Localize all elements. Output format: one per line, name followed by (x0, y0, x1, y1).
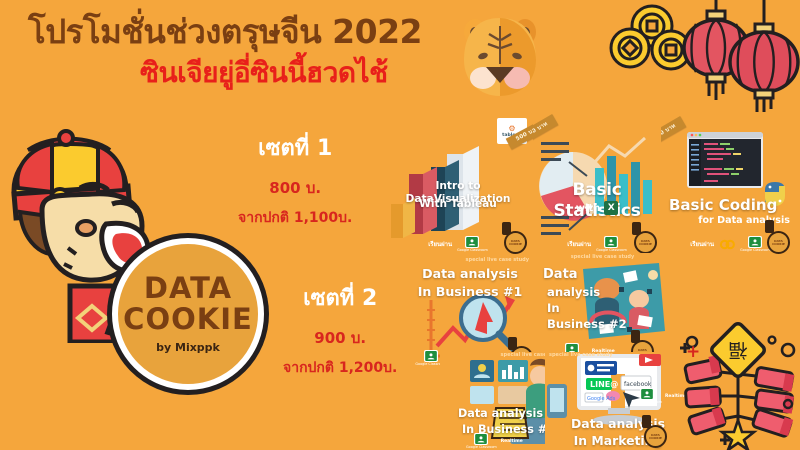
google-classroom-badge: Google Classroom (631, 388, 662, 404)
brand-logo: DATA COOKIE by Mixppk (112, 238, 264, 390)
set-1-pricing: เซตที่ 1 800 บ. จากปกติ 1,100บ. (238, 130, 352, 229)
excel-icon: X (604, 201, 618, 215)
brand-line-2: COOKIE (123, 303, 253, 336)
platform-name: Google Classroom (740, 248, 771, 252)
tiger-face-icon (458, 12, 542, 98)
course-title-line-2: In Business #1 (405, 284, 535, 300)
course-topnote: special live case study (405, 257, 535, 263)
cookie-seal-badge: DATA COOKIE (504, 231, 527, 254)
platform-label: เรียนผ่าน (690, 239, 714, 249)
google-classroom-icon (640, 388, 654, 400)
course-card-tableau[interactable]: ⚙ tableau 500 บาท Intro to DataVisualiza… (383, 112, 533, 257)
page-title: โปรโมชั่นช่วงตรุษจีน 2022 (28, 14, 422, 50)
fu-character: 福 (728, 339, 747, 361)
course-card-statistics[interactable]: 500 บาท Basic Statistics with X เรียนผ่า… (533, 112, 661, 257)
google-classroom-icon (424, 350, 438, 362)
course-card-marketing[interactable]: LINE@ facebook Google Ads special live c… (545, 352, 691, 450)
course-subtitle: with (576, 203, 601, 214)
course-subtitle: for Data analysis (661, 215, 800, 227)
cookie-seal-badge: DATA COOKIE (644, 425, 667, 448)
cookie-seal-badge: DATA COOKIE (767, 231, 790, 254)
set-2-title: เซตที่ 2 (283, 280, 397, 315)
platform-name: Google Classroom (596, 248, 627, 252)
course-card-business-2[interactable]: special live case study Data analysis In… (535, 253, 670, 363)
platform-name: Google Classroom (631, 400, 662, 404)
set-1-title: เซตที่ 1 (238, 130, 352, 165)
set-1-price: 800 บ. (238, 176, 352, 200)
course-title-line-4: Business #2 (535, 317, 670, 331)
course-title-line-3: In (535, 301, 670, 315)
course-title-line-2: analysis (535, 285, 670, 299)
svg-text:facebook: facebook (624, 381, 652, 388)
colab-icon (719, 239, 735, 250)
course-footer: Google Classroom Realtime (545, 388, 691, 404)
google-classroom-icon (604, 236, 618, 248)
platform-label: เรียนผ่าน (428, 239, 452, 249)
brand-line-1: DATA (144, 274, 232, 303)
google-classroom-icon (465, 236, 479, 248)
set-1-original-price: จากปกติ 1,100บ. (238, 207, 352, 229)
course-title-line-2: In Marketing (545, 433, 691, 449)
course-title-line-2: With Tableau (383, 198, 533, 211)
red-lanterns-icon (676, 0, 800, 112)
platform-label: Realtime (501, 439, 523, 444)
course-card-coding[interactable]: 500 บาท Basic Coding for Data analysis เ… (661, 112, 800, 257)
course-title-line-1: Data analysis (545, 416, 691, 432)
stamp-handle-icon (765, 220, 774, 233)
course-title-line-1: Data analysis (405, 266, 535, 282)
google-classroom-icon (474, 433, 488, 445)
set-2-price: 900 บ. (283, 326, 397, 350)
google-classroom-badge: Google Classroom (596, 236, 627, 252)
google-classroom-badge: Google Classroom (457, 236, 488, 252)
google-classroom-icon (748, 236, 762, 248)
poster-canvas: โปรโมชั่นช่วงตรุษจีน 2022 ซินเจียยู่อี่ซ… (0, 0, 800, 450)
firecrackers-icon: 福 (676, 300, 800, 450)
course-title-line-1: Data (535, 267, 670, 283)
platform-label: เรียนผ่าน (567, 239, 591, 249)
course-topnote: special live case study (535, 254, 670, 260)
brand-byline: by Mixppk (156, 341, 220, 354)
platform-name: Google Classroom (466, 445, 497, 449)
platform-name: Google Classroom (457, 248, 488, 252)
course-subtitle-row: with X (533, 201, 661, 215)
set-2-pricing: เซตที่ 2 900 บ. จากปกติ 1,200บ. (283, 280, 397, 379)
set-2-original-price: จากปกติ 1,200บ. (283, 357, 397, 379)
sparkle-plus-icon: + (686, 342, 700, 362)
course-title-line-1: Basic Coding (661, 196, 800, 215)
page-subtitle: ซินเจียยู่อี่ซินนี้ฮวดไช้ (140, 58, 388, 89)
course-topnote: special live case study (545, 352, 691, 358)
cookie-seal-badge: DATA COOKIE (634, 231, 657, 254)
google-classroom-badge: Google Classroom (466, 433, 497, 449)
